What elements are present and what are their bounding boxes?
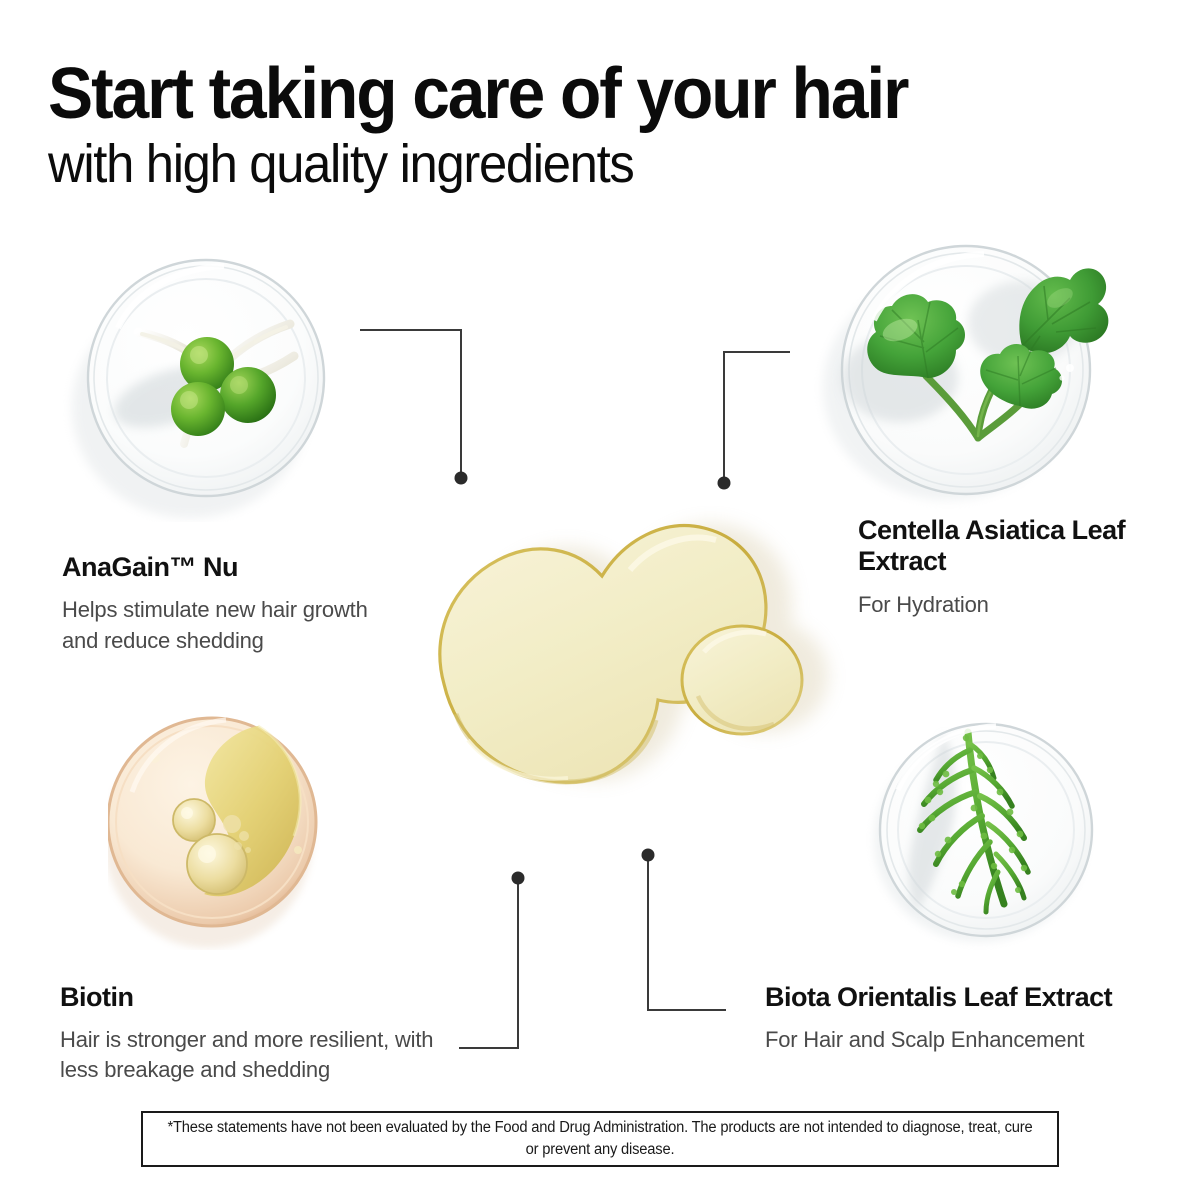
ingredient-description-anagain: Helps stimulate new hair growth and redu… [62,595,382,656]
petri-dish-centella-leaves [808,228,1118,513]
disclaimer-text: *These statements have not been evaluate… [166,1117,1034,1161]
ingredient-block-biota: Biota Orientalis Leaf Extract For Hair a… [765,982,1165,1055]
ingredient-name-centella: Centella Asiatica Leaf Extract [858,515,1158,578]
ingredient-description-biotin: Hair is stronger and more resilient, wit… [60,1025,460,1084]
headline: Start taking care of your hair with high… [48,58,1158,193]
petri-dish-pea-sprouts [58,232,348,522]
headline-line-1: Start taking care of your hair [48,58,1091,130]
petri-dish-cypress-sprig [862,708,1112,958]
ingredient-block-centella: Centella Asiatica Leaf Extract For Hydra… [858,515,1158,620]
serum-droplet-blob [398,452,848,852]
connector-biotin [459,880,518,1048]
ingredient-name-biota: Biota Orientalis Leaf Extract [765,982,1165,1013]
connector-dot-biotin [512,872,525,885]
petri-dish-biotin-serum [108,700,323,950]
connector-biota [648,857,726,1010]
ingredient-name-biotin: Biotin [60,982,460,1013]
ingredient-block-biotin: Biotin Hair is stronger and more resilie… [60,982,460,1084]
ingredient-description-centella: For Hydration [858,590,1158,620]
disclaimer-box: *These statements have not been evaluate… [141,1111,1059,1167]
infographic-canvas: Start taking care of your hair with high… [0,0,1200,1200]
headline-line-2: with high quality ingredients [48,136,1091,193]
ingredient-block-anagain: AnaGain™ Nu Helps stimulate new hair gro… [62,552,382,656]
ingredient-description-biota: For Hair and Scalp Enhancement [765,1025,1165,1055]
ingredient-name-anagain: AnaGain™ Nu [62,552,382,583]
